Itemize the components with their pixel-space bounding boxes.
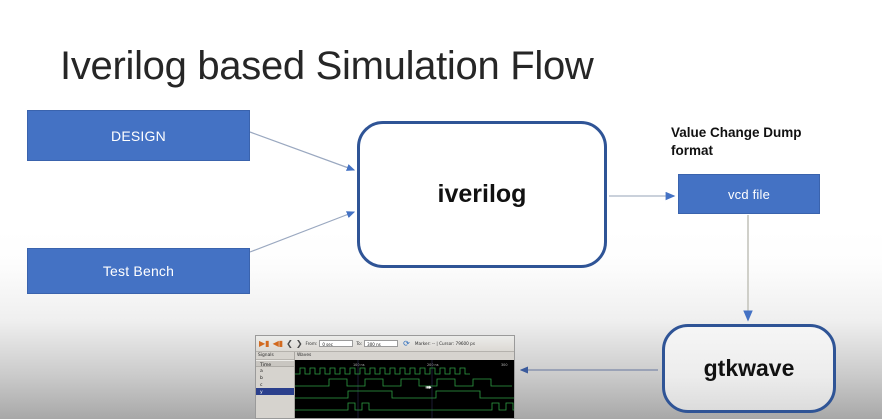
page-title: Iverilog based Simulation Flow xyxy=(60,44,593,89)
testbench-box[interactable]: Test Bench xyxy=(27,248,250,294)
zoom-in-icon[interactable]: ◀▮ xyxy=(273,340,284,348)
from-field-group: From: 0 sec xyxy=(306,340,354,347)
signal-row-b[interactable]: b xyxy=(256,374,294,381)
design-box[interactable]: DESIGN xyxy=(27,110,250,161)
waves-panel[interactable]: Waves 100 ns 200 ns 300 xyxy=(295,352,514,419)
mouse-pointer-icon: ➠ xyxy=(425,384,432,392)
reload-icon[interactable]: ⟳ xyxy=(403,339,410,348)
vcd-format-label: Value Change Dump format xyxy=(671,124,831,160)
waveform-canvas[interactable]: 100 ns 200 ns 300 xyxy=(295,360,514,419)
next-edge-icon[interactable]: ❯ xyxy=(296,340,303,348)
from-label: From: xyxy=(306,341,318,346)
presentation-slide: Iverilog based Simulation Flow DESIGN Te… xyxy=(0,0,882,419)
vcd-file-box[interactable]: vcd file xyxy=(678,174,820,214)
prev-edge-icon[interactable]: ❮ xyxy=(286,340,293,348)
svg-text:100 ns: 100 ns xyxy=(353,363,365,367)
waves-header: Waves xyxy=(295,352,514,360)
signals-panel: Signals Time a b c y xyxy=(256,352,295,419)
to-input[interactable]: 300 ns xyxy=(364,340,398,347)
iverilog-box[interactable]: iverilog xyxy=(357,121,607,268)
gtkwave-box[interactable]: gtkwave xyxy=(662,324,836,413)
svg-text:200 ns: 200 ns xyxy=(427,363,439,367)
design-box-label: DESIGN xyxy=(111,128,166,144)
signal-row-time[interactable]: Time xyxy=(256,360,294,367)
testbench-box-label: Test Bench xyxy=(103,263,174,279)
to-label: To: xyxy=(356,341,362,346)
marker-cursor-status: Marker: -- | Cursor: 79600 ps xyxy=(415,341,475,346)
signal-row-c[interactable]: c xyxy=(256,381,294,388)
gtkwave-body: Signals Time a b c y Waves 100 ns 200 ns… xyxy=(256,352,514,419)
gtkwave-label: gtkwave xyxy=(704,355,795,382)
zoom-fit-icon[interactable]: ▶▮ xyxy=(259,340,270,348)
signals-header: Signals xyxy=(256,352,294,360)
gtkwave-toolbar: ▶▮ ◀▮ ❮ ❯ From: 0 sec To: 300 ns ⟳ Marke… xyxy=(256,336,514,352)
vcd-file-label: vcd file xyxy=(728,187,770,202)
signal-row-a[interactable]: a xyxy=(256,367,294,374)
to-field-group: To: 300 ns xyxy=(356,340,398,347)
svg-text:300: 300 xyxy=(501,363,507,367)
iverilog-label: iverilog xyxy=(438,180,527,209)
signal-row-y[interactable]: y xyxy=(256,388,294,395)
gtkwave-screenshot: ▶▮ ◀▮ ❮ ❯ From: 0 sec To: 300 ns ⟳ Marke… xyxy=(255,335,515,419)
from-input[interactable]: 0 sec xyxy=(319,340,353,347)
waveform-traces: 100 ns 200 ns 300 xyxy=(295,360,514,419)
